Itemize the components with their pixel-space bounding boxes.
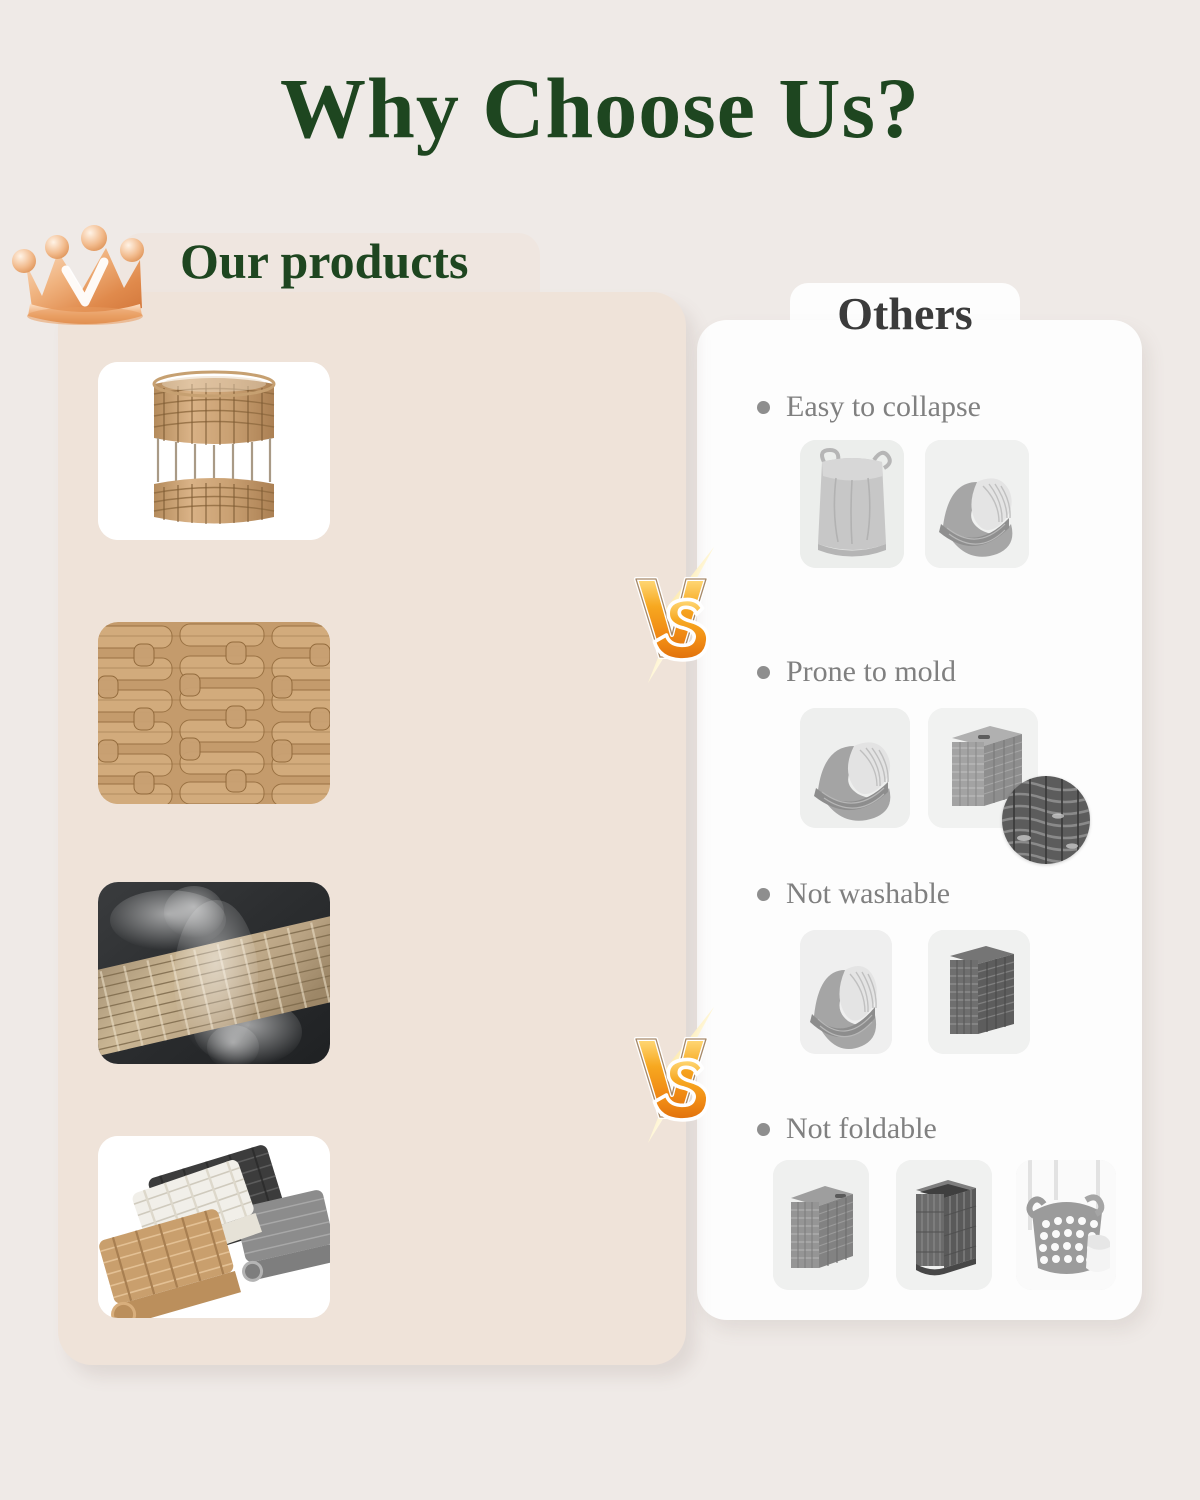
others-tab-label: Others	[790, 287, 1020, 340]
product-image-breathable-steam	[98, 882, 330, 1064]
product-image-metal-frame	[98, 362, 330, 540]
bullet-dot-icon	[757, 888, 770, 901]
others-item-label: Easy to collapse	[786, 390, 981, 424]
product-image-woven-texture	[98, 622, 330, 804]
vs-badge-top	[622, 545, 740, 685]
page-title: Why Choose Us?	[0, 58, 1200, 158]
others-image-fabric-hamper	[800, 440, 904, 568]
crown-icon	[6, 212, 164, 334]
others-image-collapsed-basket-1	[925, 440, 1029, 568]
bullet-dot-icon	[757, 1123, 770, 1136]
others-item-label: Prone to mold	[786, 655, 956, 689]
others-item-not-foldable: Not foldable	[757, 1112, 937, 1146]
bullet-dot-icon	[757, 401, 770, 414]
mold-texture-closeup-icon	[1002, 776, 1090, 864]
others-image-dark-woven-hamper	[928, 930, 1030, 1054]
product-image-folded-mats	[98, 1136, 330, 1318]
others-image-collapsed-basket-3	[800, 930, 892, 1054]
others-item-not-washable: Not washable	[757, 877, 950, 911]
others-item-label: Not washable	[786, 877, 950, 911]
others-item-prone-to-mold: Prone to mold	[757, 655, 956, 689]
others-item-easy-to-collapse: Easy to collapse	[757, 390, 981, 424]
others-item-label: Not foldable	[786, 1112, 937, 1146]
others-image-plastic-perforated-basket	[1016, 1160, 1116, 1290]
vs-badge-bottom	[622, 1005, 740, 1145]
others-image-collapsed-basket-2	[800, 708, 910, 828]
infographic-page: Why Choose Us? Others Our products	[0, 0, 1200, 1500]
others-image-open-woven-hamper	[896, 1160, 992, 1290]
our-products-tab-label: Our products	[180, 232, 469, 290]
bullet-dot-icon	[757, 666, 770, 679]
others-image-hamper-with-lid	[773, 1160, 869, 1290]
